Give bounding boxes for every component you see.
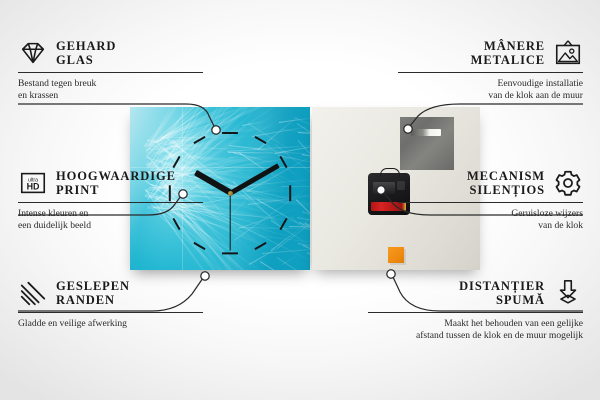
feature-description: Bestand tegen breuk en krassen — [18, 78, 203, 101]
wire-endpoint-dot — [387, 270, 395, 278]
mechanism-hanging-loop — [380, 168, 400, 177]
feature-divider — [18, 72, 203, 73]
feature-manere-metalice: MÂNERE METALICE Eenvoudige installatie v… — [398, 38, 583, 101]
feature-description: Maakt het behouden van een gelijke afsta… — [368, 318, 583, 341]
feature-header: DISTANȚIER SPUMĂ — [368, 278, 583, 308]
feature-divider — [368, 312, 583, 313]
gear-icon — [553, 168, 583, 198]
metal-hanger-plate — [400, 117, 454, 170]
feature-header: GEHARD GLAS — [18, 38, 203, 68]
feature-title: MÂNERE METALICE — [471, 39, 545, 68]
feature-header: GESLEPEN RANDEN — [18, 278, 203, 308]
mechanism-label — [373, 182, 395, 194]
feature-title: DISTANȚIER SPUMĂ — [459, 279, 545, 308]
feature-hoogwaardige-print: ultra HD HOOGWAARDIGE PRINT Intense kleu… — [18, 168, 203, 231]
feature-header: MÂNERE METALICE — [398, 38, 583, 68]
feature-divider — [398, 202, 583, 203]
feature-mecanism-silentios: MECANISM SILENȚIOS Geruisloze wijzers va… — [398, 168, 583, 231]
diagonal-lines-icon — [18, 278, 48, 308]
feature-divider — [398, 72, 583, 73]
hanger-keyhole-slot — [411, 129, 441, 136]
feature-gehard-glas: GEHARD GLAS Bestand tegen breuk en krass… — [18, 38, 203, 101]
ultra-hd-icon-big-text: HD — [27, 182, 40, 192]
hand-s — [229, 193, 230, 251]
clock-tick-mark — [222, 252, 238, 254]
feature-description: Gladde en veilige afwerking — [18, 318, 203, 330]
ultra-hd-icon: ultra HD — [18, 168, 48, 198]
feature-description: Eenvoudige installatie van de klok aan d… — [398, 78, 583, 101]
feature-title: MECANISM SILENȚIOS — [467, 169, 545, 198]
arrow-down-layers-icon — [553, 278, 583, 308]
diamond-icon — [18, 38, 48, 68]
feature-title: GEHARD GLAS — [56, 39, 116, 68]
feature-description: Geruisloze wijzers van de klok — [398, 208, 583, 231]
clock-pivot — [228, 191, 233, 196]
feature-description: Intense kleuren en een duidelijk beeld — [18, 208, 203, 231]
feature-header: MECANISM SILENȚIOS — [398, 168, 583, 198]
feature-divider — [18, 202, 203, 203]
feature-divider — [18, 312, 203, 313]
feature-title: HOOGWAARDIGE PRINT — [56, 169, 176, 198]
feature-geslepen-randen: GESLEPEN RANDEN Gladde en veilige afwerk… — [18, 278, 203, 330]
feather-streak — [281, 185, 310, 186]
feature-distantier-spuma: DISTANȚIER SPUMĂ Maakt het behouden van … — [368, 278, 583, 341]
feature-title: GESLEPEN RANDEN — [56, 279, 130, 308]
foam-spacer — [388, 247, 404, 263]
infographic-canvas: GEHARD GLAS Bestand tegen breuk en krass… — [0, 0, 600, 400]
picture-frame-hook-icon — [553, 38, 583, 68]
clock-tick-mark — [289, 185, 291, 201]
feature-header: ultra HD HOOGWAARDIGE PRINT — [18, 168, 203, 198]
